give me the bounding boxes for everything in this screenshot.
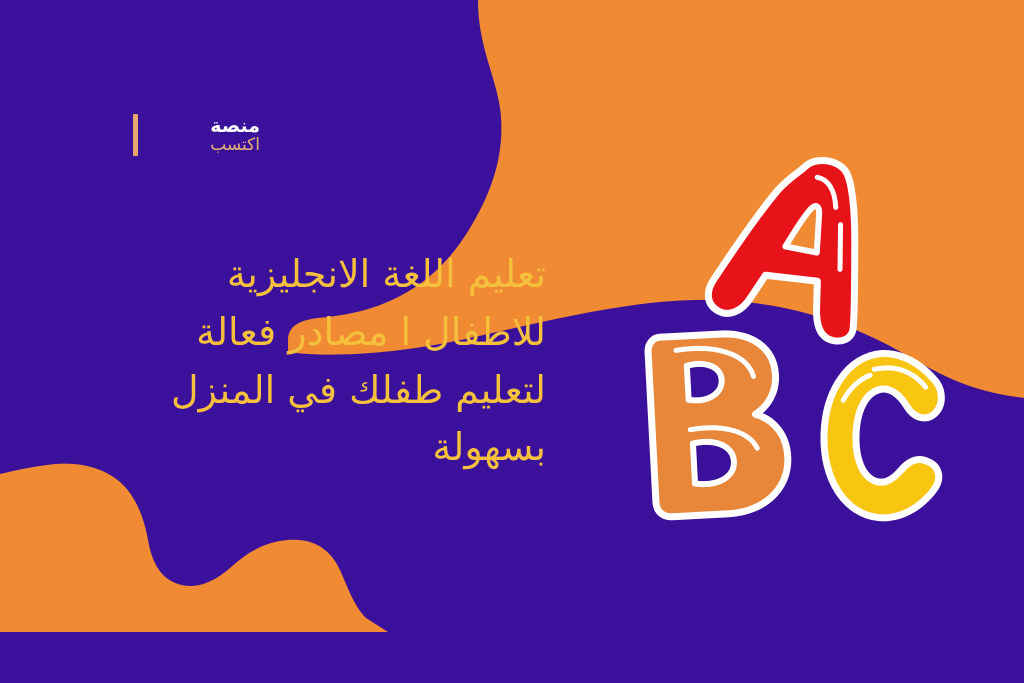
- logo-wordmark: منصة اكتسب: [210, 116, 260, 155]
- headline-line-3: لتعليم طفلك في المنزل: [94, 362, 546, 420]
- letter-b-artwork: [628, 320, 818, 530]
- letter-c-artwork: [806, 336, 976, 536]
- poster-canvas: منصة اكتسب تعليم اللغة الانجليزية للاطفا…: [0, 0, 1024, 683]
- headline-line-4: بسهولة: [94, 419, 546, 477]
- logo-secondary-text: اكتسب: [210, 136, 260, 154]
- bottom-left-orange-blob: [0, 464, 388, 632]
- logo-accent-bar-icon: [133, 114, 138, 156]
- letter-b-lower-counter: [693, 440, 735, 484]
- headline-line-2: للاطفال ا مصادر فعالة: [94, 304, 546, 362]
- letter-b-upper-counter: [687, 363, 723, 401]
- headline: تعليم اللغة الانجليزية للاطفال ا مصادر ف…: [94, 246, 546, 477]
- letter-c-shape: [821, 351, 943, 519]
- logo-primary-text: منصة: [210, 116, 260, 137]
- headline-line-1: تعليم اللغة الانجليزية: [94, 246, 546, 304]
- letter-b-shape: [647, 331, 790, 518]
- brand-logo[interactable]: منصة اكتسب: [44, 104, 274, 166]
- letter-a-artwork: [694, 150, 914, 340]
